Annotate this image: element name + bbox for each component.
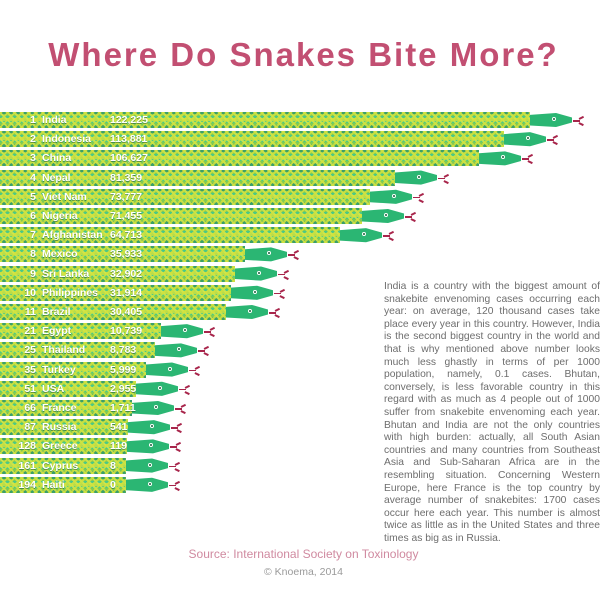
tongue-fork	[553, 141, 558, 145]
tongue-fork	[411, 218, 416, 222]
copyright-notice: © Knoema, 2014	[0, 566, 607, 578]
snake-head-icon	[127, 438, 169, 454]
chart-row: 9Sri Lanka32,902	[0, 266, 291, 282]
snake-body-bar	[0, 342, 155, 358]
snake-eye-icon	[552, 117, 556, 121]
tongue-fork	[528, 160, 533, 164]
chart-row: 5Viet Nam73,777	[0, 189, 426, 205]
tongue-fork	[195, 372, 200, 376]
tongue-fork	[294, 250, 299, 254]
snake-tongue-icon	[547, 137, 558, 143]
tongue-fork	[185, 385, 190, 389]
snake-tongue-icon	[288, 252, 299, 258]
snake-tongue-icon	[171, 425, 182, 431]
snake-head-icon	[126, 477, 168, 493]
snake-head-icon	[245, 246, 287, 262]
snake-head-icon	[504, 131, 546, 147]
snake-tongue-icon	[170, 444, 181, 450]
tongue-fork	[175, 481, 180, 485]
chart-row: 6Nigeria71,455	[0, 208, 418, 224]
snake-body-bar	[0, 381, 136, 397]
snake-eye-icon	[183, 328, 187, 332]
chart-row: 8Mexico35,933	[0, 246, 301, 262]
snake-eye-icon	[148, 463, 152, 467]
snake-head-icon	[530, 112, 572, 128]
description-paragraph: India is a country with the biggest amou…	[384, 281, 600, 545]
tongue-fork	[175, 487, 180, 491]
snake-body-bar	[0, 112, 530, 128]
source-credit: Source: International Society on Toxinol…	[0, 547, 607, 561]
snake-eye-icon	[526, 136, 530, 140]
snake-head-icon	[226, 304, 268, 320]
tongue-fork	[280, 295, 285, 299]
tongue-fork	[389, 237, 394, 241]
tongue-fork	[176, 442, 181, 446]
chart-row: 161Cyprus8	[0, 458, 182, 474]
snake-body-bar	[0, 419, 128, 435]
chart-row: 35Turkey5,999	[0, 362, 202, 378]
snake-head-icon	[155, 342, 197, 358]
snake-tongue-icon	[198, 348, 209, 354]
tongue-fork	[275, 308, 280, 312]
snake-head-icon	[370, 189, 412, 205]
chart-row: 25Thailand8,783	[0, 342, 211, 358]
snake-tongue-icon	[522, 156, 533, 162]
snake-body-bar	[0, 400, 132, 416]
snake-tongue-icon	[169, 483, 180, 489]
snake-tongue-icon	[405, 214, 416, 220]
tongue-fork	[411, 212, 416, 216]
tongue-fork	[210, 333, 215, 337]
chart-row: 2Indonesia113,881	[0, 131, 560, 147]
snake-eye-icon	[248, 309, 252, 313]
snake-eye-icon	[501, 155, 505, 159]
tongue-fork	[419, 193, 424, 197]
chart-row: 194Haiti0	[0, 477, 182, 493]
snake-head-icon	[146, 362, 188, 378]
snake-eye-icon	[417, 175, 421, 179]
snake-body-bar	[0, 438, 127, 454]
snake-body-bar	[0, 477, 126, 493]
tongue-fork	[528, 154, 533, 158]
snake-head-icon	[340, 227, 382, 243]
snake-eye-icon	[154, 405, 158, 409]
snake-eye-icon	[253, 290, 257, 294]
snake-tongue-icon	[413, 195, 424, 201]
snake-body-bar	[0, 362, 146, 378]
tongue-fork	[280, 289, 285, 293]
tongue-fork	[579, 122, 584, 126]
snake-head-icon	[161, 323, 203, 339]
snake-eye-icon	[392, 194, 396, 198]
snake-eye-icon	[257, 271, 261, 275]
chart-row: 3China106,627	[0, 150, 535, 166]
tongue-fork	[275, 314, 280, 318]
tongue-fork	[284, 269, 289, 273]
snake-tongue-icon	[573, 118, 584, 124]
snake-eye-icon	[149, 443, 153, 447]
snake-tongue-icon	[189, 368, 200, 374]
snake-head-icon	[395, 170, 437, 186]
snake-tongue-icon	[278, 272, 289, 278]
snake-head-icon	[479, 150, 521, 166]
tongue-fork	[444, 180, 449, 184]
snake-body-bar	[0, 458, 126, 474]
tongue-fork	[181, 404, 186, 408]
chart-row: 21Egypt10,739	[0, 323, 217, 339]
snake-tongue-icon	[175, 406, 186, 412]
snake-head-icon	[362, 208, 404, 224]
snake-head-icon	[235, 266, 277, 282]
snake-body-bar	[0, 227, 340, 243]
tongue-fork	[419, 199, 424, 203]
tongue-fork	[579, 116, 584, 120]
chart-row: 7Afghanistan64,713	[0, 227, 396, 243]
tongue-fork	[294, 256, 299, 260]
snake-body-bar	[0, 189, 370, 205]
tongue-fork	[204, 346, 209, 350]
snake-tongue-icon	[204, 329, 215, 335]
snake-eye-icon	[384, 213, 388, 217]
snake-eye-icon	[158, 386, 162, 390]
tongue-fork	[553, 135, 558, 139]
snake-eye-icon	[168, 367, 172, 371]
tongue-fork	[284, 276, 289, 280]
chart-row: 11Brazil30,405	[0, 304, 282, 320]
tongue-fork	[204, 352, 209, 356]
tongue-fork	[389, 231, 394, 235]
snake-tongue-icon	[169, 464, 180, 470]
page-title: Where Do Snakes Bite More?	[0, 36, 607, 74]
tongue-fork	[175, 468, 180, 472]
snake-tongue-icon	[383, 233, 394, 239]
infographic-root: Where Do Snakes Bite More? 1India122,225…	[0, 0, 607, 599]
chart-row: 1India122,225	[0, 112, 586, 128]
tongue-fork	[444, 173, 449, 177]
tongue-fork	[177, 429, 182, 433]
tongue-fork	[181, 410, 186, 414]
snake-body-bar	[0, 304, 226, 320]
snake-eye-icon	[148, 482, 152, 486]
snake-tongue-icon	[269, 310, 280, 316]
snake-eye-icon	[177, 347, 181, 351]
chart-row: 10Philippines31,914	[0, 285, 287, 301]
snake-head-icon	[128, 419, 170, 435]
snake-head-icon	[132, 400, 174, 416]
tongue-fork	[176, 448, 181, 452]
chart-row: 87Russia541	[0, 419, 184, 435]
snake-tongue-icon	[438, 176, 449, 182]
tongue-fork	[175, 461, 180, 465]
snake-body-bar	[0, 285, 231, 301]
snake-head-icon	[126, 458, 168, 474]
snake-eye-icon	[267, 251, 271, 255]
snake-tongue-icon	[179, 387, 190, 393]
snake-body-bar	[0, 131, 504, 147]
chart-row: 66France1,711	[0, 400, 188, 416]
tongue-fork	[177, 423, 182, 427]
snake-body-bar	[0, 266, 235, 282]
snake-eye-icon	[150, 424, 154, 428]
snake-body-bar	[0, 246, 245, 262]
snake-body-bar	[0, 170, 395, 186]
snake-body-bar	[0, 323, 161, 339]
chart-row: 128Greece119	[0, 438, 183, 454]
snake-head-icon	[136, 381, 178, 397]
snake-tongue-icon	[274, 291, 285, 297]
tongue-fork	[185, 391, 190, 395]
chart-row: 51USA2,955	[0, 381, 192, 397]
chart-row: 4Nepal81,359	[0, 170, 451, 186]
snake-eye-icon	[362, 232, 366, 236]
tongue-fork	[195, 365, 200, 369]
snake-body-bar	[0, 150, 479, 166]
snake-body-bar	[0, 208, 362, 224]
snake-head-icon	[231, 285, 273, 301]
tongue-fork	[210, 327, 215, 331]
